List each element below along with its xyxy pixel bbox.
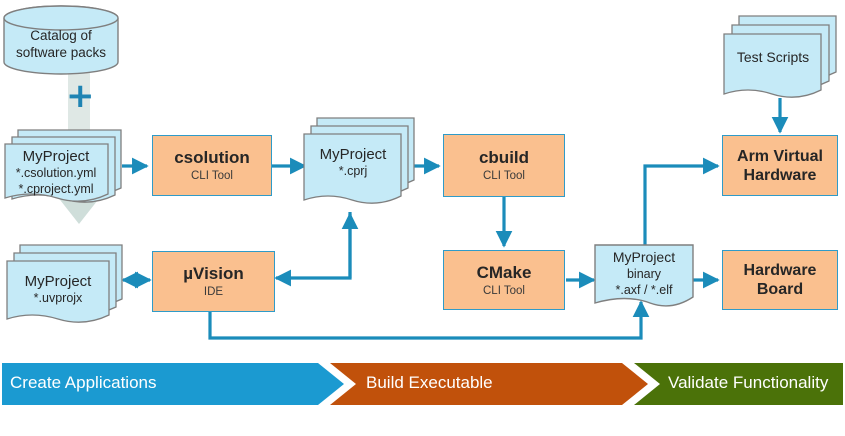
- cmake-subtitle: CLI Tool: [483, 284, 525, 298]
- node-cbuild[interactable]: cbuild CLI Tool: [443, 134, 565, 197]
- node-project-yml: MyProject *.csolution.yml *.cproject.yml: [4, 126, 122, 208]
- project-yml-line1: MyProject: [23, 148, 90, 165]
- test-scripts-line1: Test Scripts: [737, 49, 809, 66]
- avh-line1: Arm Virtual: [737, 147, 823, 166]
- node-test-scripts: Test Scripts: [723, 14, 837, 102]
- project-cprj-line1: MyProject: [320, 146, 387, 163]
- project-uvprojx-line2: *.uvprojx: [34, 290, 83, 306]
- project-yml-line2: *.csolution.yml: [16, 165, 97, 181]
- cmake-title: CMake: [477, 263, 532, 282]
- node-project-cprj: MyProject *.cprj: [303, 116, 415, 212]
- stage-label-0: Create Applications: [10, 373, 156, 393]
- node-project-uvprojx: MyProject *.uvprojx: [6, 243, 124, 325]
- arrow-binary-to-avh: [645, 166, 718, 254]
- board-line1: Hardware: [744, 261, 817, 280]
- uvision-title: µVision: [183, 264, 244, 283]
- project-uvprojx-line1: MyProject: [25, 273, 92, 290]
- binary-line3: *.axf / *.elf: [616, 282, 673, 298]
- csolution-title: csolution: [174, 148, 250, 167]
- binary-line2: binary: [627, 266, 661, 282]
- stage-label-1: Build Executable: [366, 373, 493, 393]
- catalog-line1: Catalog of: [30, 27, 92, 44]
- node-catalog: Catalog of software packs: [3, 5, 119, 75]
- board-line2: Board: [757, 280, 803, 299]
- node-hardware-board[interactable]: Hardware Board: [722, 250, 838, 310]
- uvision-subtitle: IDE: [204, 285, 223, 299]
- project-yml-line3: *.cproject.yml: [18, 181, 93, 197]
- avh-line2: Hardware: [744, 166, 817, 185]
- cbuild-subtitle: CLI Tool: [483, 169, 525, 183]
- plus-icon: +: [66, 79, 95, 113]
- diagram-canvas: Catalog of software packs + MyProject *.…: [0, 0, 845, 436]
- node-arm-virtual-hardware[interactable]: Arm Virtual Hardware: [722, 135, 838, 196]
- project-cprj-line2: *.cprj: [339, 163, 367, 179]
- catalog-line2: software packs: [16, 44, 106, 61]
- cbuild-title: cbuild: [479, 148, 529, 167]
- node-uvision[interactable]: µVision IDE: [152, 251, 275, 312]
- node-binary: MyProject binary *.axf / *.elf: [594, 243, 694, 315]
- stage-label-2: Validate Functionality: [668, 373, 828, 393]
- binary-line1: MyProject: [613, 249, 675, 266]
- csolution-subtitle: CLI Tool: [191, 169, 233, 183]
- node-cmake[interactable]: CMake CLI Tool: [443, 250, 565, 310]
- node-csolution[interactable]: csolution CLI Tool: [152, 135, 272, 196]
- arrow-cprj-to-uvision: [276, 212, 350, 278]
